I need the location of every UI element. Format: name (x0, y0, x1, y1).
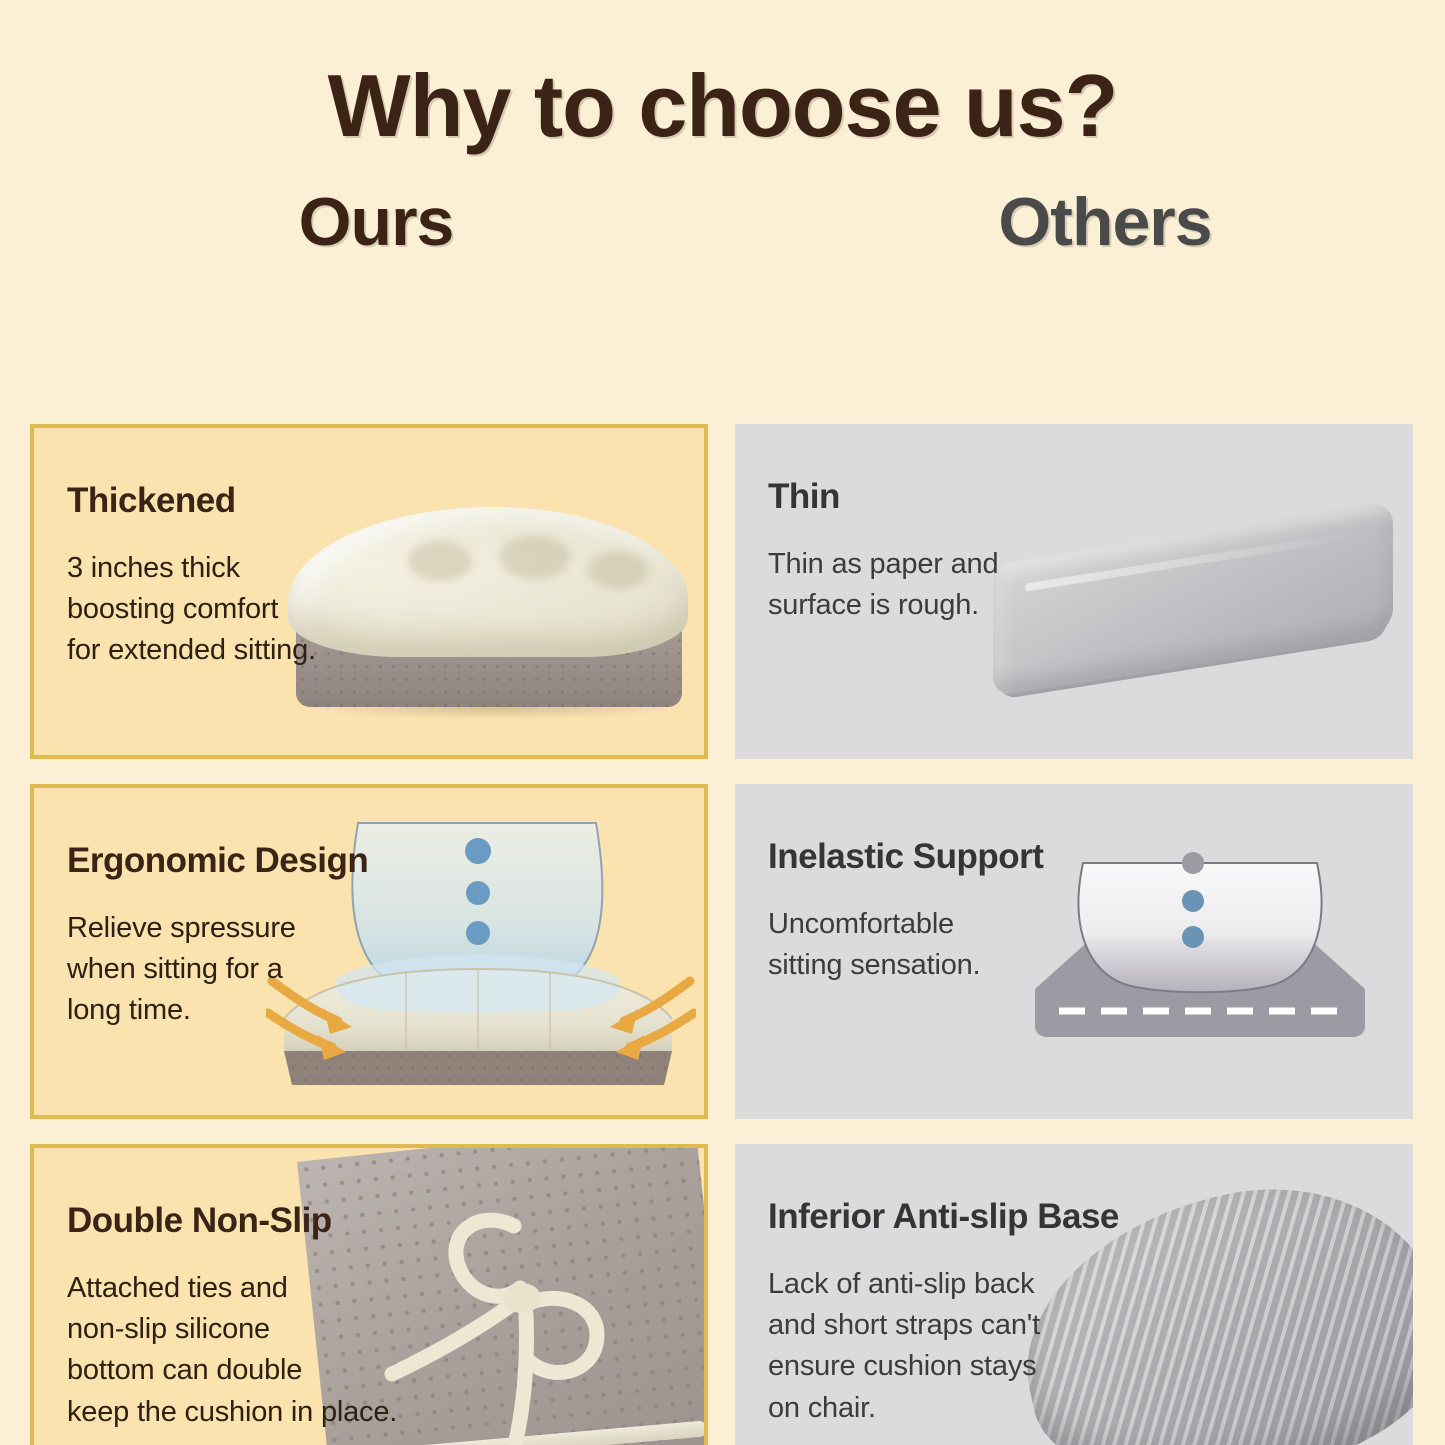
card-text-block: Inferior Anti-slip Base Lack of anti-sli… (735, 1144, 1135, 1429)
card-body-line: 3 inches thick (67, 548, 434, 589)
card-body-line: Relieve spressure (67, 908, 434, 949)
card-others-inelastic-support: Inelastic Support Uncomfortable sitting … (735, 784, 1413, 1119)
card-body: Thin as paper and surface is rough. (768, 544, 1135, 626)
card-body-line: long time. (67, 990, 434, 1031)
card-body-line: sitting sensation. (768, 945, 1135, 986)
card-body: 3 inches thick boosting comfort for exte… (67, 548, 434, 672)
card-text-block: Thickened 3 inches thick boosting comfor… (34, 428, 434, 672)
card-title: Thickened (67, 483, 434, 518)
card-body-line: Lack of anti-slip back (768, 1264, 1135, 1305)
card-text-block: Ergonomic Design Relieve spressure when … (34, 788, 434, 1032)
card-body-line: surface is rough. (768, 585, 1135, 626)
card-others-thin: Thin Thin as paper and surface is rough. (735, 424, 1413, 759)
card-body: Lack of anti-slip back and short straps … (768, 1264, 1135, 1429)
card-body-line: ensure cushion stays (768, 1346, 1135, 1387)
card-body-line: non-slip silicone (67, 1309, 434, 1350)
card-body: Relieve spressure when sitting for a lon… (67, 908, 434, 1032)
card-ours-double-non-slip: Double Non-Slip Attached ties and non-sl… (30, 1144, 708, 1445)
pressure-dot (465, 838, 491, 864)
card-body-line: Uncomfortable (768, 904, 1135, 945)
card-body-line: when sitting for a (67, 949, 434, 990)
card-title: Thin (768, 479, 1135, 514)
card-body-line: Attached ties and (67, 1268, 434, 1309)
card-title: Inferior Anti-slip Base (768, 1199, 1135, 1234)
card-body-line: on chair. (768, 1388, 1135, 1429)
pressure-arrow-right (630, 1013, 694, 1047)
tie-knot (503, 1283, 541, 1313)
comparison-grid: Thickened 3 inches thick boosting comfor… (30, 424, 1415, 1445)
page-title: Why to choose us? (0, 62, 1445, 150)
pressure-dot (466, 881, 490, 905)
card-others-inferior-anti-slip-base: Inferior Anti-slip Base Lack of anti-sli… (735, 1144, 1413, 1445)
column-headers: Ours Others (0, 188, 1445, 298)
comparison-row: Thickened 3 inches thick boosting comfor… (30, 424, 1415, 759)
card-body: Attached ties and non-slip silicone bott… (67, 1268, 434, 1433)
card-text-block: Double Non-Slip Attached ties and non-sl… (34, 1148, 434, 1433)
comparison-row: Ergonomic Design Relieve spressure when … (30, 784, 1415, 1119)
card-body-line: bottom can double (67, 1350, 434, 1391)
card-text-block: Inelastic Support Uncomfortable sitting … (735, 784, 1135, 986)
card-body-line: boosting comfort (67, 589, 434, 630)
card-title: Ergonomic Design (67, 843, 434, 878)
card-body-line: and short straps can't (768, 1305, 1135, 1346)
card-body-line: Thin as paper and (768, 544, 1135, 585)
pressure-dot (1182, 852, 1204, 874)
card-text-block: Thin Thin as paper and surface is rough. (735, 424, 1135, 626)
silicone-base (284, 1051, 672, 1085)
card-body-line: keep the cushion in place. (67, 1392, 434, 1433)
comparison-row: Double Non-Slip Attached ties and non-sl… (30, 1144, 1415, 1445)
pressure-dot (1182, 926, 1204, 948)
card-body: Uncomfortable sitting sensation. (768, 904, 1135, 986)
column-header-ours: Ours (246, 188, 506, 256)
card-title: Inelastic Support (768, 839, 1135, 874)
column-header-others: Others (975, 188, 1235, 256)
card-body-line: for extended sitting. (67, 630, 434, 671)
pressure-dot (1182, 890, 1204, 912)
pressure-arrow-right (624, 981, 690, 1021)
pressure-dot (466, 921, 490, 945)
card-title: Double Non-Slip (67, 1203, 434, 1238)
card-ours-ergonomic-design: Ergonomic Design Relieve spressure when … (30, 784, 708, 1119)
card-ours-thickened: Thickened 3 inches thick boosting comfor… (30, 424, 708, 759)
